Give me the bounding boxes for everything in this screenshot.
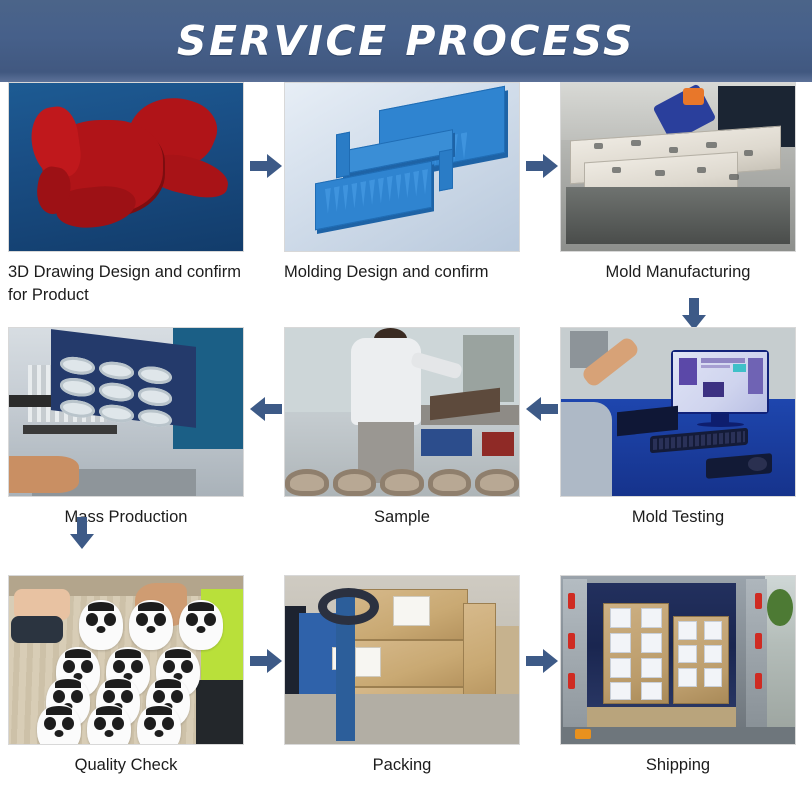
step-molding-design[interactable]: Molding Design and confirm <box>284 82 536 284</box>
step-mass-production[interactable]: Mass Production <box>8 327 260 529</box>
arrow-right-molding-to-mold <box>526 152 558 180</box>
step-3d-drawing-design[interactable]: 3D Drawing Design and confirm for Produc… <box>8 82 260 308</box>
process-row-1: 3D Drawing Design and confirm for Produc… <box>0 82 812 327</box>
arrow-down-mold-to-testing <box>680 298 708 330</box>
step-caption: Packing <box>284 754 520 777</box>
step-quality-check[interactable]: Quality Check <box>8 575 260 777</box>
step-caption: Molding Design and confirm <box>284 261 520 284</box>
arrow-right-3d-to-molding <box>250 152 282 180</box>
arrow-right-packing-to-shipping <box>526 647 558 675</box>
step-mold-testing[interactable]: Mold Testing <box>560 327 812 529</box>
step-caption: Mold Testing <box>560 506 796 529</box>
arrow-right-quality-to-packing <box>250 647 282 675</box>
step-caption: Quality Check <box>8 754 244 777</box>
process-grid: 3D Drawing Design and confirm for Produc… <box>0 82 812 812</box>
sample-photo <box>284 327 520 497</box>
step-caption: 3D Drawing Design and confirm for Produc… <box>8 261 244 308</box>
page-title: SERVICE PROCESS <box>177 17 635 65</box>
step-caption: Mold Manufacturing <box>560 261 796 284</box>
process-row-3: Quality Check <box>0 565 812 812</box>
step-shipping[interactable]: Shipping <box>560 575 812 777</box>
step-caption: Shipping <box>560 754 796 777</box>
shipping-photo <box>560 575 796 745</box>
quality-check-photo <box>8 575 244 745</box>
arrow-left-sample-to-mass <box>250 395 282 423</box>
packing-photo <box>284 575 520 745</box>
arrow-left-testing-to-sample <box>526 395 558 423</box>
process-row-2: Mass Production <box>0 327 812 565</box>
mass-production-photo <box>8 327 244 497</box>
service-process-infographic: SERVICE PROCESS 3D Drawing Design and co… <box>0 0 812 812</box>
header-banner: SERVICE PROCESS <box>0 0 812 82</box>
mold-testing-photo <box>560 327 796 497</box>
step-caption: Sample <box>284 506 520 529</box>
step-caption: Mass Production <box>8 506 244 529</box>
molding-design-photo <box>284 82 520 252</box>
step-packing[interactable]: Packing <box>284 575 536 777</box>
step-sample[interactable]: Sample <box>284 327 536 529</box>
step-mold-manufacturing[interactable]: Mold Manufacturing <box>560 82 812 284</box>
3d-drawing-design-photo <box>8 82 244 252</box>
mold-manufacturing-photo <box>560 82 796 252</box>
arrow-down-mass-to-quality <box>68 517 96 549</box>
